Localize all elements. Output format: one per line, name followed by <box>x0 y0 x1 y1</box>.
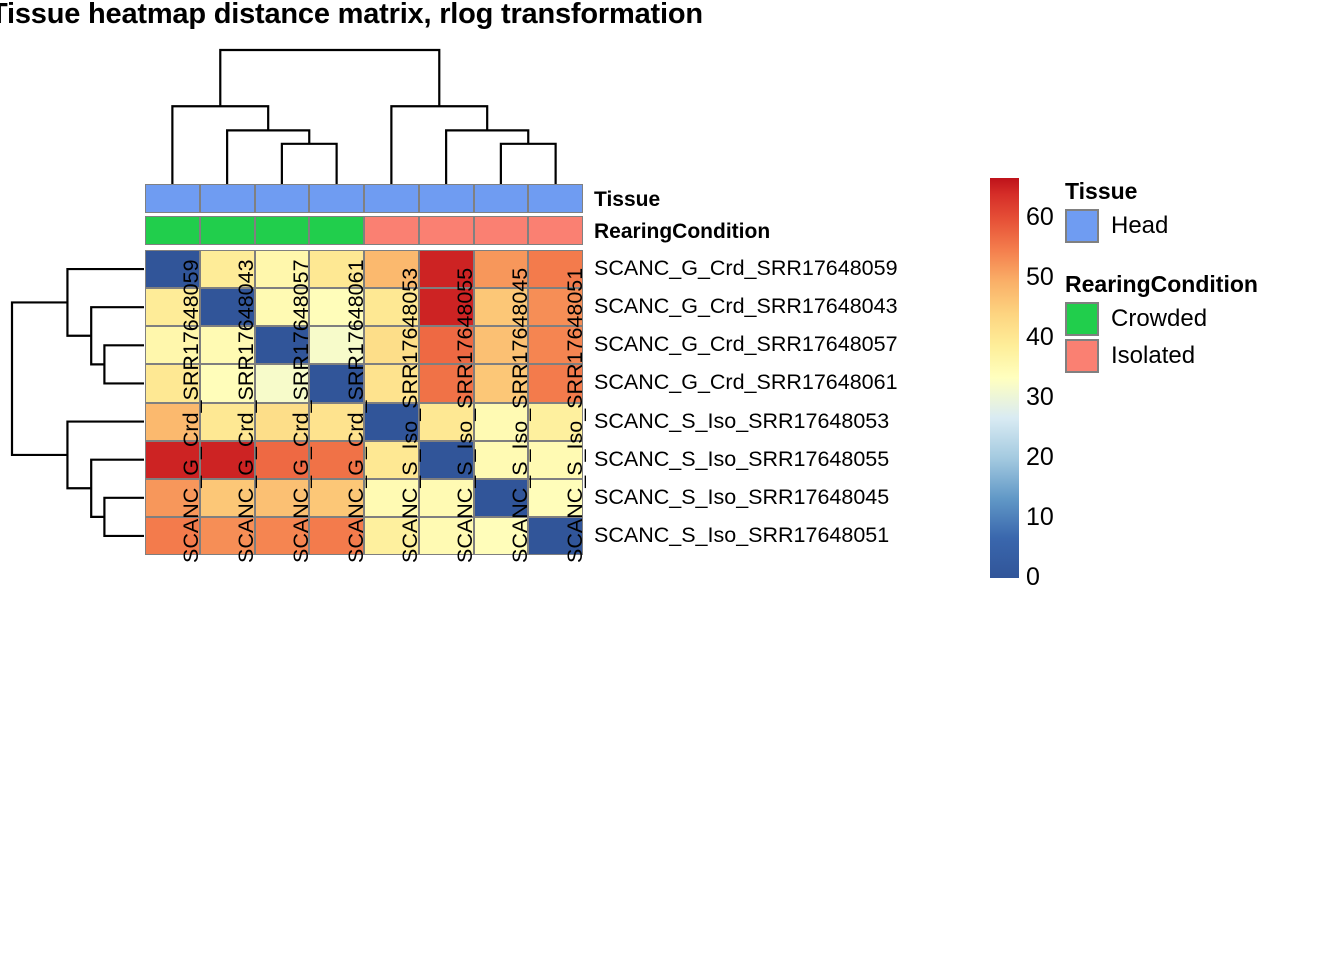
dendrogram-branch <box>501 144 556 184</box>
column-label: SCANC_S_Iso_SRR17648053 <box>400 268 422 563</box>
annotation-cell <box>419 216 474 245</box>
annotation-cell <box>145 216 200 245</box>
annotation-cell <box>309 216 364 245</box>
colorbar-tick-label: 30 <box>1026 383 1054 412</box>
row-label: SCANC_S_Iso_SRR17648045 <box>594 487 889 509</box>
colorbar-tick-label: 40 <box>1026 323 1054 352</box>
legend-title: RearingCondition <box>1065 271 1258 298</box>
dendrogram-branch <box>91 460 144 517</box>
dendrogram-branch <box>220 50 439 106</box>
annotation-label-rearingcondition: RearingCondition <box>594 220 770 244</box>
annotation-cell <box>528 184 583 213</box>
annotation-bar-rearingcondition <box>145 216 583 245</box>
column-label: SCANC_G_Crd_SRR17648043 <box>236 259 258 563</box>
legend-title: Tissue <box>1065 178 1137 205</box>
row-label: SCANC_G_Crd_SRR17648061 <box>594 372 898 394</box>
row-label: SCANC_S_Iso_SRR17648053 <box>594 411 889 433</box>
colorbar-tick-label: 0 <box>1026 563 1040 592</box>
colorbar <box>990 178 1019 578</box>
dendrogram-branch <box>446 130 528 184</box>
dendrogram-branch <box>391 106 487 184</box>
dendrogram-branch <box>12 302 67 455</box>
page-title: Tissue heatmap distance matrix, rlog tra… <box>0 0 990 31</box>
colorbar-tick-label: 10 <box>1026 503 1054 532</box>
legend-item[interactable]: Isolated <box>1065 339 1195 373</box>
annotation-cell <box>419 184 474 213</box>
annotation-cell <box>145 184 200 213</box>
legend-swatch <box>1065 209 1099 243</box>
column-label: SCANC_G_Crd_SRR17648061 <box>346 259 368 563</box>
colorbar-tick-label: 50 <box>1026 263 1054 292</box>
colorbar-tick-label: 20 <box>1026 443 1054 472</box>
legend-swatch <box>1065 339 1099 373</box>
dendrogram-branch <box>104 498 144 536</box>
dendrogram-branch <box>172 106 268 184</box>
colorbar-gradient <box>990 178 1019 578</box>
dendrogram-branch <box>67 269 144 336</box>
heatmap-figure: Tissue heatmap distance matrix, rlog tra… <box>0 0 1344 960</box>
dendrogram-branch <box>104 345 144 383</box>
column-label: SCANC_S_Iso_SRR17648051 <box>565 268 587 563</box>
column-label: SCANC_G_Crd_SRR17648057 <box>291 259 313 563</box>
annotation-cell <box>255 184 310 213</box>
column-label: SCANC_S_Iso_SRR17648055 <box>455 268 477 563</box>
legend-item[interactable]: Crowded <box>1065 302 1207 336</box>
dendrogram-branch <box>227 130 309 184</box>
column-dendrogram <box>145 46 585 184</box>
colorbar-tick-label: 60 <box>1026 203 1054 232</box>
annotation-cell <box>200 216 255 245</box>
column-label: SCANC_S_Iso_SRR17648045 <box>510 268 532 563</box>
row-label: SCANC_S_Iso_SRR17648055 <box>594 449 889 471</box>
legend-item-label: Isolated <box>1111 342 1195 370</box>
annotation-cell <box>364 184 419 213</box>
row-dendrogram <box>8 250 144 555</box>
legend-swatch <box>1065 302 1099 336</box>
legend-item-label: Head <box>1111 212 1168 240</box>
annotation-cell <box>528 216 583 245</box>
row-label: SCANC_G_Crd_SRR17648043 <box>594 296 898 318</box>
annotation-cell <box>255 216 310 245</box>
annotation-cell <box>474 184 529 213</box>
legend-item[interactable]: Head <box>1065 209 1168 243</box>
dendrogram-branch <box>282 144 337 184</box>
annotation-cell <box>200 184 255 213</box>
annotation-cell <box>474 216 529 245</box>
legend-item-label: Crowded <box>1111 305 1207 333</box>
row-label: SCANC_S_Iso_SRR17648051 <box>594 525 889 547</box>
annotation-cell <box>364 216 419 245</box>
dendrogram-branch <box>67 422 144 489</box>
annotation-cell <box>309 184 364 213</box>
column-label: SCANC_G_Crd_SRR17648059 <box>181 259 203 563</box>
annotation-bar-tissue <box>145 184 583 213</box>
row-label: SCANC_G_Crd_SRR17648057 <box>594 334 898 356</box>
dendrogram-branch <box>91 307 144 364</box>
row-label: SCANC_G_Crd_SRR17648059 <box>594 258 898 280</box>
annotation-label-tissue: Tissue <box>594 188 660 212</box>
